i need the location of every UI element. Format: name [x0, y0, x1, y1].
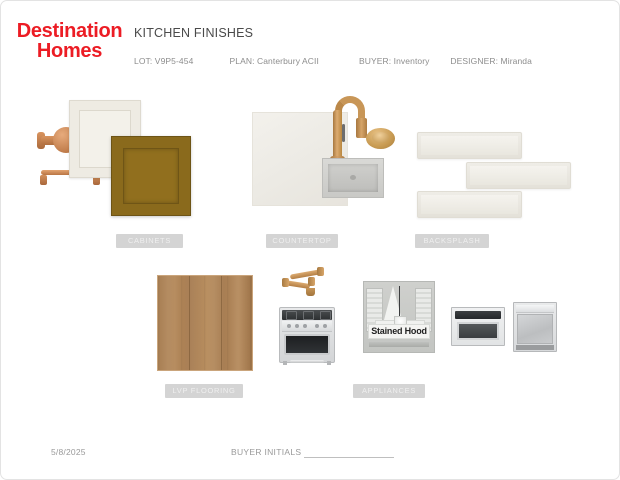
range-knob-2: [295, 324, 299, 328]
buyer-initials-signature-line[interactable]: [304, 457, 394, 458]
range-leg-right: [327, 361, 331, 365]
chip-appliances: APPLIANCES: [353, 384, 425, 398]
stained-hood-label: Stained Hood: [368, 324, 430, 339]
hood-counter-shelf: [369, 342, 429, 347]
stained-cabinet-door-sample: [111, 136, 191, 216]
pendant-cord: [399, 286, 400, 318]
faucet-spout: [356, 118, 367, 138]
meta-buyer: BUYER: Inventory: [359, 56, 448, 66]
range-leg-left: [283, 361, 287, 365]
pot-filler-nozzle: [306, 288, 315, 296]
logo-line-2: Homes: [12, 41, 127, 61]
microwave-appliance: [451, 307, 505, 346]
range-grate-left: [286, 311, 297, 320]
kitchen-sink-sample: [322, 158, 384, 198]
dishwasher-appliance: [513, 302, 557, 352]
backsplash-tile-1: [417, 132, 522, 159]
meta-lot: LOT: V9P5-454: [134, 56, 227, 66]
dishwasher-toe-kick: [516, 345, 554, 350]
pull-foot-left: [40, 175, 47, 185]
microwave-control-panel: [455, 311, 501, 319]
dishwasher-door: [517, 314, 553, 344]
finish-selection-sheet: Destination Homes KITCHEN FINISHES LOT: …: [0, 0, 620, 480]
lvp-seam-1: [189, 276, 190, 370]
project-meta-row: LOT: V9P5-454 PLAN: Canterbury ACII BUYE…: [134, 56, 574, 66]
page-title: KITCHEN FINISHES: [134, 26, 253, 40]
range-knob-1: [287, 324, 291, 328]
microwave-door: [457, 322, 499, 340]
meta-plan: PLAN: Canterbury ACII: [229, 56, 356, 66]
faucet-handle: [342, 124, 345, 142]
range-knob-4: [315, 324, 319, 328]
range-knob-5: [323, 324, 327, 328]
pot-filler-end-joint: [317, 267, 324, 276]
brass-air-switch-sample: [366, 128, 395, 149]
chip-cabinets: CABINETS: [116, 234, 183, 248]
faucet-column: [333, 110, 342, 160]
chip-lvp-flooring: LVP FLOORING: [165, 384, 243, 398]
sheet-date: 5/8/2025: [51, 447, 86, 457]
range-grate-right: [320, 311, 331, 320]
lvp-flooring-sample: [157, 275, 253, 371]
pot-filler-wall-joint: [282, 278, 289, 287]
backsplash-tile-2: [466, 162, 571, 189]
meta-designer: DESIGNER: Miranda: [450, 56, 532, 66]
range-oven-handle: [290, 360, 324, 363]
range-oven-door: [284, 334, 330, 355]
backsplash-tile-3: [417, 191, 522, 218]
chip-countertop: COUNTERTOP: [266, 234, 338, 248]
stained-hood-render: Stained Hood: [363, 281, 435, 353]
kitchen-faucet-icon: [325, 94, 373, 166]
lvp-seam-2: [221, 276, 222, 370]
range-appliance: [279, 307, 335, 363]
pot-filler-icon: [282, 263, 328, 299]
pot-filler-upper-arm: [290, 269, 320, 279]
company-logo: Destination Homes: [12, 21, 127, 61]
dishwasher-control-panel: [516, 305, 554, 313]
buyer-initials-label: BUYER INITIALS: [231, 447, 301, 457]
range-grate-center: [303, 311, 314, 320]
chip-backsplash: BACKSPLASH: [415, 234, 489, 248]
range-knob-3: [303, 324, 307, 328]
sink-drain: [350, 175, 356, 180]
logo-line-1: Destination: [17, 20, 123, 42]
pot-filler-mid-joint: [308, 277, 315, 286]
